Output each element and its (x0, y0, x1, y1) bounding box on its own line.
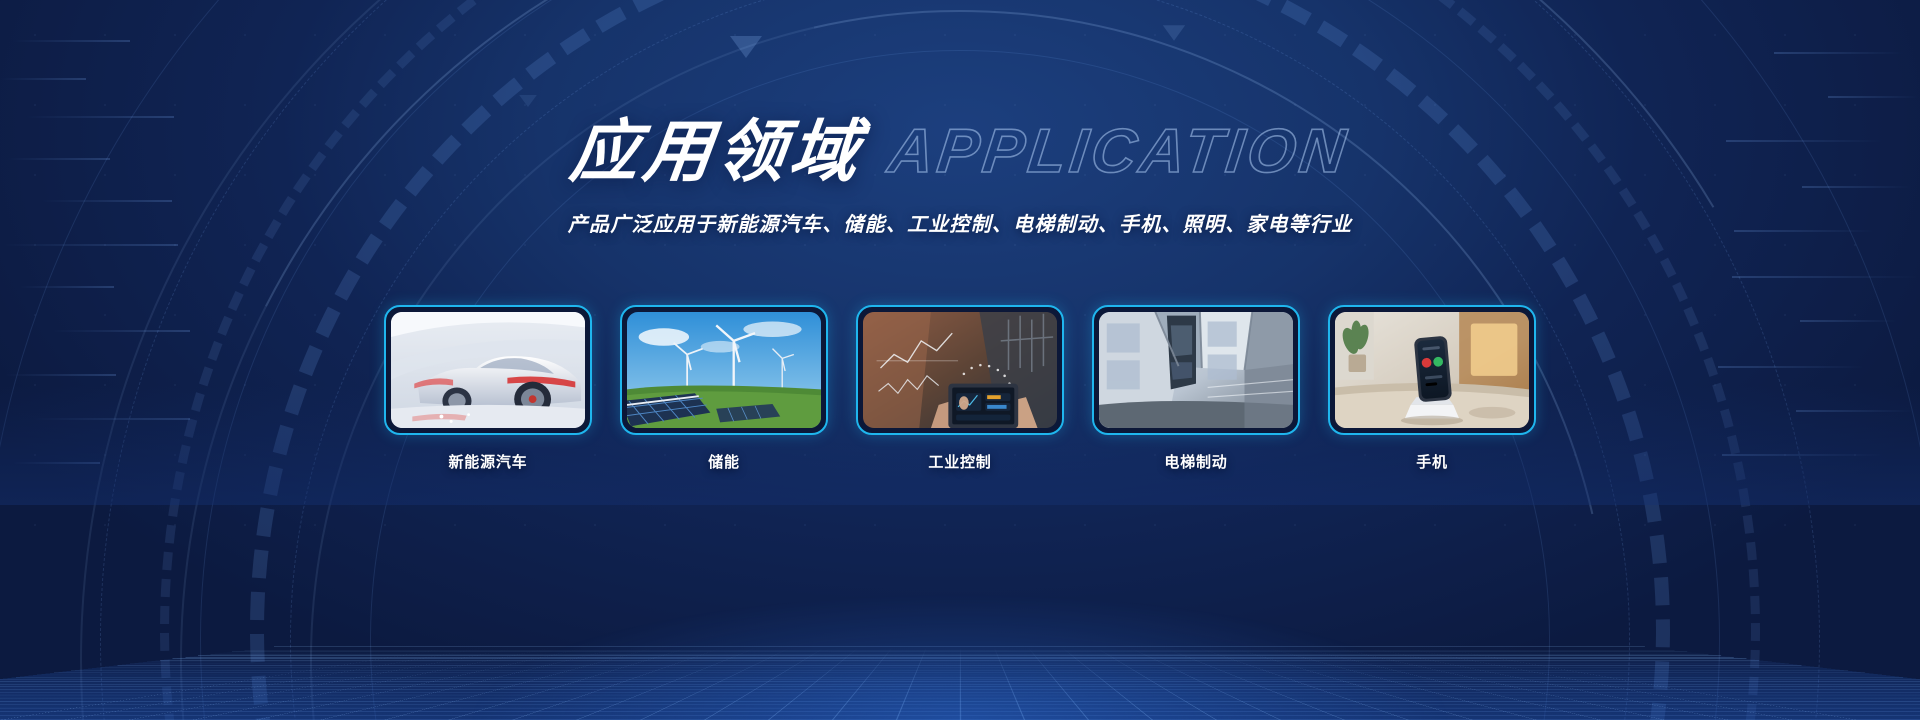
title-row: 应用领域APPLICATION (571, 118, 1349, 186)
card-label: 新能源汽车 (384, 451, 592, 472)
application-card[interactable]: 工业控制 (856, 305, 1064, 472)
card-frame[interactable] (1328, 305, 1536, 435)
card-frame[interactable] (856, 305, 1064, 435)
card-label: 储能 (620, 451, 828, 472)
new-energy-vehicle-photo (391, 312, 585, 428)
elevator-shaft-photo (1099, 312, 1293, 428)
card-frame[interactable] (620, 305, 828, 435)
smartphone-wireless-charger-photo (1335, 312, 1529, 428)
application-card[interactable]: 手机 (1328, 305, 1536, 472)
application-card[interactable]: 新能源汽车 (384, 305, 592, 472)
industrial-control-tablet-photo (863, 312, 1057, 428)
wind-turbine-solar-farm-photo (627, 312, 821, 428)
card-label: 手机 (1328, 451, 1536, 472)
background-floor-glow (0, 505, 1920, 720)
banner-subtitle: 产品广泛应用于新能源汽车、储能、工业控制、电梯制动、手机、照明、家电等行业 (0, 208, 1920, 237)
application-card[interactable]: 电梯制动 (1092, 305, 1300, 472)
card-label: 工业控制 (856, 451, 1064, 472)
application-card[interactable]: 储能 (620, 305, 828, 472)
card-frame[interactable] (384, 305, 592, 435)
page-title: 应用领域 (567, 118, 867, 186)
application-card-list: 新能源汽车 (0, 305, 1920, 472)
card-frame[interactable] (1092, 305, 1300, 435)
application-banner: 应用领域APPLICATION 产品广泛应用于新能源汽车、储能、工业控制、电梯制… (0, 0, 1920, 720)
card-label: 电梯制动 (1092, 451, 1300, 472)
page-title-english: APPLICATION (885, 121, 1352, 183)
banner-header: 应用领域APPLICATION 产品广泛应用于新能源汽车、储能、工业控制、电梯制… (0, 118, 1920, 237)
